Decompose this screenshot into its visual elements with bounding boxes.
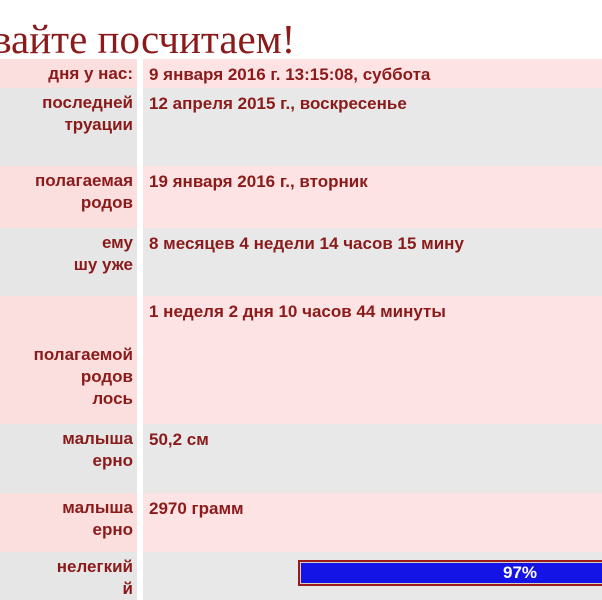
progress-percent-label: 97% (300, 562, 602, 584)
row-value: 8 месяцев 4 недели 14 часов 15 мину (143, 228, 602, 296)
row-label: полагаемая родов (0, 166, 137, 228)
row-label: малыша ерно (0, 424, 137, 493)
pregnancy-progress-bar: 97% (298, 560, 602, 586)
page-title: авайте посчитаем! (0, 15, 602, 63)
table-row-progress: нелегкий й 97% (0, 552, 602, 600)
table-row: малыша ерно 2970 грамм (0, 493, 602, 552)
row-label: последней труации (0, 88, 137, 166)
table-row: полагаемой родов лось 1 неделя 2 дня 10 … (0, 296, 602, 424)
row-label: ему шу уже (0, 228, 137, 296)
row-value: 9 января 2016 г. 13:15:08, суббота (143, 59, 602, 88)
row-label-line: полагаемой (2, 344, 133, 366)
row-value: 19 января 2016 г., вторник (143, 166, 602, 228)
row-label-line: малыша (2, 428, 133, 450)
row-value: 2970 грамм (143, 493, 602, 552)
row-label-line: последней (2, 92, 133, 114)
table-row: дня у нас: 9 января 2016 г. 13:15:08, су… (0, 59, 602, 88)
row-label-line: лось (2, 388, 133, 410)
row-label-line: родов (2, 366, 133, 388)
row-label-line: ерно (2, 450, 133, 472)
row-label: нелегкий й (0, 552, 137, 600)
row-value: 1 неделя 2 дня 10 часов 44 минуты (143, 296, 602, 424)
row-value: 12 апреля 2015 г., воскресенье (143, 88, 602, 166)
row-label-line: нелегкий (2, 556, 133, 578)
table-row: ему шу уже 8 месяцев 4 недели 14 часов 1… (0, 228, 602, 296)
row-label-line: ерно (2, 519, 133, 541)
row-label: малыша ерно (0, 493, 137, 552)
row-label-line: дня у нас: (2, 63, 133, 85)
row-label-line: й (2, 578, 133, 600)
table-row: малыша ерно 50,2 см (0, 424, 602, 493)
row-label: дня у нас: (0, 59, 137, 88)
table-row: последней труации 12 апреля 2015 г., вос… (0, 88, 602, 166)
row-value-progress: 97% (143, 552, 602, 600)
row-label-line: ему (2, 232, 133, 254)
row-label-line: труации (2, 114, 133, 136)
row-label: полагаемой родов лось (0, 296, 137, 424)
table-row: полагаемая родов 19 января 2016 г., втор… (0, 166, 602, 228)
row-label-line: полагаемая (2, 170, 133, 192)
row-value: 50,2 см (143, 424, 602, 493)
row-label-line: малыша (2, 497, 133, 519)
row-label-line: родов (2, 192, 133, 214)
row-label-line: шу уже (2, 254, 133, 276)
